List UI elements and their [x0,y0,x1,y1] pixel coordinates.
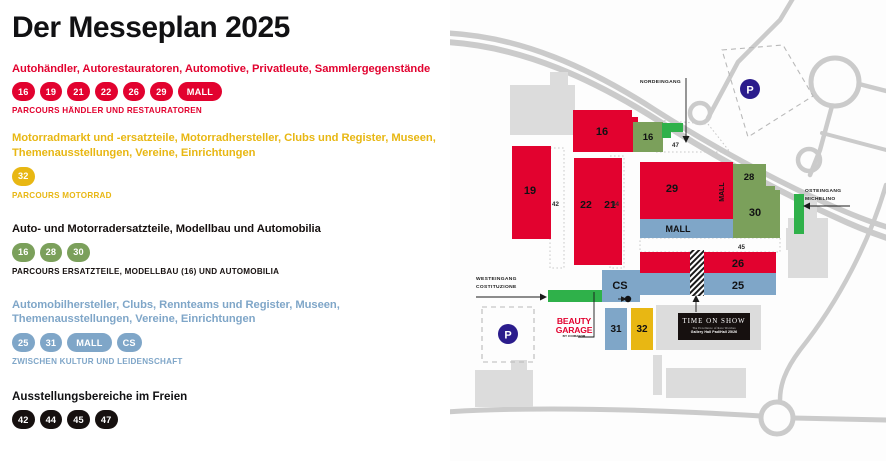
time-on-show-title: TIME ON SHOW [682,318,745,325]
outdoor-label-47: 47 [672,142,679,149]
time-on-show-location: Gallery Hall Pad/Hall 25/26 [691,331,737,335]
building-south-mid [666,368,746,398]
hall-cs-label: CS [612,280,627,292]
outdoor-label-42: 42 [552,201,559,208]
beauty-garage-line2: GARAGE [553,326,595,335]
legend-badge-row: 16 19 21 22 26 29 MALL [12,82,440,101]
outdoor-area-45 [640,238,780,252]
legend-group-ersatzteile: Auto- und Motorradersatzteile, Modellbau… [12,222,440,276]
legend-group-subtitle: PARCOURS MOTORRAD [12,191,440,200]
outdoor-heading: Ausstellungsbereiche im Freien [12,390,440,403]
badge-cs[interactable]: CS [117,333,142,352]
hall-26[interactable]: 26 [640,252,776,273]
badge-16[interactable]: 16 [12,243,35,262]
badge-28[interactable]: 28 [40,243,63,262]
hall-mall-vertical[interactable]: MALL [716,162,733,219]
west-entrance-label-1: WESTEINGANG [476,276,517,282]
hall-25[interactable]: 25 [640,273,776,295]
legend-group-haendler: Autohändler, Autorestauratoren, Automoti… [12,62,440,116]
building-south-west [475,360,533,407]
parking-west[interactable]: P [498,324,518,344]
hall-32-label: 32 [636,324,648,335]
building-northwest [510,72,575,135]
legend-column: Der Messeplan 2025 Autohändler, Autorest… [0,0,450,461]
annotation-west-entrance: WESTEINGANG COSTITUZIONE [476,276,547,301]
parking-north-label: P [746,85,753,97]
hall-30[interactable]: 30 [733,186,780,238]
beauty-garage-logo: BEAUTY GARAGE BY COIRAFOR [553,317,595,338]
road-east-connector [822,133,886,150]
parking-west-label: P [504,330,511,342]
badge-19[interactable]: 19 [40,82,63,101]
legend-group-heading: Motorradmarkt und -ersatzteile, Motorrad… [12,131,440,161]
hall-29-label: 29 [666,183,678,195]
hall-28-label: 28 [744,172,755,183]
hall-22-label: 22 [580,199,592,211]
road-east-spur [859,84,886,92]
hall-mall-vertical-label: MALL [719,182,726,202]
badge-31[interactable]: 31 [40,333,63,352]
legend-group-heading: Auto- und Motorradersatzteile, Modellbau… [12,222,440,237]
legend-group-heading: Automobilhersteller, Clubs, Rennteams un… [12,298,440,328]
badge-30[interactable]: 30 [67,243,90,262]
east-entrance-label-1: OSTEINGANG [805,188,841,194]
north-entrance-label: NORDEINGANG [640,79,681,85]
badge-26[interactable]: 26 [123,82,146,101]
badge-47[interactable]: 47 [95,410,118,429]
road-northeast [708,0,795,118]
page-title: Der Messeplan 2025 [12,12,440,44]
badge-42[interactable]: 42 [12,410,35,429]
badge-45[interactable]: 45 [67,410,90,429]
roundabout-north-entrance [690,103,710,123]
west-entrance-arrow [540,294,547,301]
road-south-east [793,418,886,420]
legend-group-heading: Autohändler, Autorestauratoren, Automoti… [12,62,440,77]
outdoor-label-44: 44 [612,201,619,208]
west-entrance-label-2: COSTITUZIONE [476,284,517,290]
hall-31[interactable]: 31 [605,308,627,350]
badge-25[interactable]: 25 [12,333,35,352]
parking-north[interactable]: P [740,79,760,99]
hall-25-label: 25 [732,280,744,292]
hall-16-green[interactable]: 16 [633,122,663,152]
outdoor-area-42 [550,148,564,268]
legend-group-motorrad: Motorradmarkt und -ersatzteile, Motorrad… [12,131,440,200]
hall-mall-horizontal[interactable]: MALL [640,219,733,238]
east-entrance-label-2: MICHELINO [805,196,836,202]
badge-29[interactable]: 29 [150,82,173,101]
legend-group-subtitle: ZWISCHEN KULTUR UND LEIDENSCHAFT [12,357,440,366]
time-on-show-plaque[interactable]: TIME ON SHOW The Excellence of Rare Watc… [678,313,750,340]
legend-group-outdoor: Ausstellungsbereiche im Freien 42 44 45 … [12,390,440,429]
map-canvas[interactable]: 16 16 19 22 [450,0,886,461]
legend-group-automobilhersteller: Automobilhersteller, Clubs, Rennteams un… [12,298,440,367]
messeplan-page: Der Messeplan 2025 Autohändler, Autorest… [0,0,886,461]
hall-16-green-label: 16 [643,132,654,143]
hatched-connector-25-26 [690,250,704,296]
badge-mall[interactable]: MALL [67,333,111,352]
badge-mall[interactable]: MALL [178,82,222,101]
badge-22[interactable]: 22 [95,82,118,101]
badge-21[interactable]: 21 [67,82,90,101]
annotation-east-entrance: OSTEINGANG MICHELINO [803,188,850,210]
legend-group-subtitle: PARCOURS HÄNDLER UND RESTAURATOREN [12,106,440,115]
hall-19-label: 19 [524,185,536,197]
hall-29[interactable]: 29 [640,162,716,219]
hall-30-label: 30 [749,207,761,219]
road-south [450,409,761,416]
roundabout-south [761,402,793,434]
legend-badge-row: 32 [12,167,440,186]
badge-16[interactable]: 16 [12,82,35,101]
hall-26-label: 26 [732,258,744,270]
hall-31-label: 31 [610,324,622,335]
legend-badge-row: 25 31 MALL CS [12,333,440,352]
legend-group-subtitle: PARCOURS ERSATZTEILE, MODELLBAU (16) UND… [12,267,440,276]
hall-22[interactable]: 22 [574,158,598,265]
building-south-thin [653,355,662,395]
hall-19[interactable]: 19 [512,146,551,239]
legend-badge-row: 42 44 45 47 [12,410,440,429]
hall-16-red-label: 16 [596,126,608,138]
entrance-bar-east [794,194,804,234]
roundabout-north [811,58,859,106]
hall-mall-horizontal-label: MALL [666,224,691,234]
badge-44[interactable]: 44 [40,410,63,429]
outdoor-label-45: 45 [738,244,745,251]
outdoor-area-parking-north [722,45,813,137]
badge-32[interactable]: 32 [12,167,35,186]
hall-16-red[interactable]: 16 [573,110,638,152]
hall-21[interactable]: 21 [598,158,622,265]
beauty-garage-line3: BY COIRAFOR [553,335,595,338]
fairground-map[interactable]: 16 16 19 22 [450,0,886,461]
hall-32[interactable]: 32 [631,308,653,350]
legend-badge-row: 16 28 30 [12,243,440,262]
